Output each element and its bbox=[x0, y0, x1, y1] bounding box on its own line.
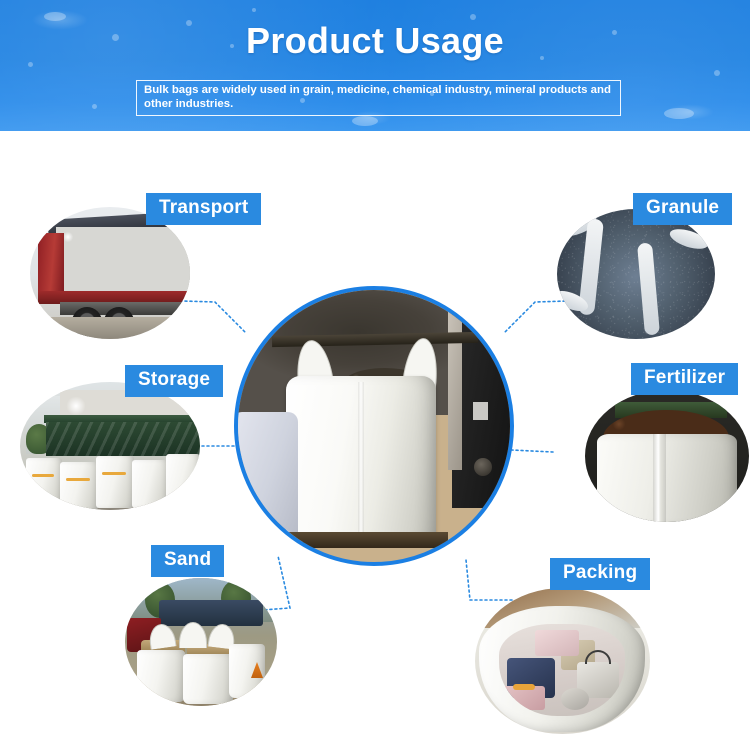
header-subtitle: Bulk bags are widely used in grain, medi… bbox=[136, 80, 621, 116]
usage-photo-sand bbox=[125, 578, 277, 706]
bag-seam bbox=[653, 434, 666, 522]
stored-bag bbox=[60, 462, 98, 510]
stored-bag bbox=[96, 456, 134, 508]
sand-bag bbox=[137, 650, 185, 702]
page-title: Product Usage bbox=[0, 20, 750, 62]
bubble-decoration bbox=[252, 8, 256, 12]
pink-garment bbox=[535, 630, 579, 656]
bubble-decoration bbox=[352, 116, 378, 126]
label-storage[interactable]: Storage bbox=[125, 365, 223, 397]
center-photo-bulk-bag bbox=[234, 286, 514, 566]
bag-tie bbox=[32, 474, 54, 477]
steel-rack bbox=[46, 422, 200, 456]
truck bbox=[159, 600, 263, 626]
orange-strap bbox=[513, 684, 535, 690]
stored-bag bbox=[132, 460, 168, 508]
truck-load-bales bbox=[56, 227, 190, 293]
bubble-decoration bbox=[714, 70, 720, 76]
bubble-decoration bbox=[664, 108, 694, 119]
bag-tie bbox=[66, 478, 90, 481]
stored-bag bbox=[166, 454, 200, 504]
grey-pouch bbox=[561, 688, 589, 710]
stored-bag bbox=[26, 458, 62, 506]
bag-handle bbox=[585, 650, 611, 664]
fertilizer-bag bbox=[597, 434, 737, 522]
truck-cab bbox=[38, 233, 64, 295]
label-transport[interactable]: Transport bbox=[146, 193, 261, 225]
label-packing[interactable]: Packing bbox=[550, 558, 650, 590]
header-banner: Product Usage Bulk bags are widely used … bbox=[0, 0, 750, 131]
label-fertilizer[interactable]: Fertilizer bbox=[631, 363, 738, 395]
usage-photo-granule bbox=[557, 209, 715, 339]
usage-photo-transport bbox=[30, 207, 190, 339]
product-usage-infographic: Product Usage Bulk bags are widely used … bbox=[0, 0, 750, 737]
road-surface bbox=[30, 317, 190, 339]
usage-photo-fertilizer bbox=[585, 390, 749, 522]
label-sand[interactable]: Sand bbox=[151, 545, 224, 577]
usage-photo-packing bbox=[475, 588, 650, 734]
bubble-decoration bbox=[28, 62, 33, 67]
sand-bag bbox=[183, 654, 233, 704]
bubble-decoration bbox=[92, 104, 97, 109]
usage-photo-storage bbox=[20, 382, 200, 510]
bag-tie bbox=[102, 472, 126, 475]
label-granule[interactable]: Granule bbox=[633, 193, 732, 225]
